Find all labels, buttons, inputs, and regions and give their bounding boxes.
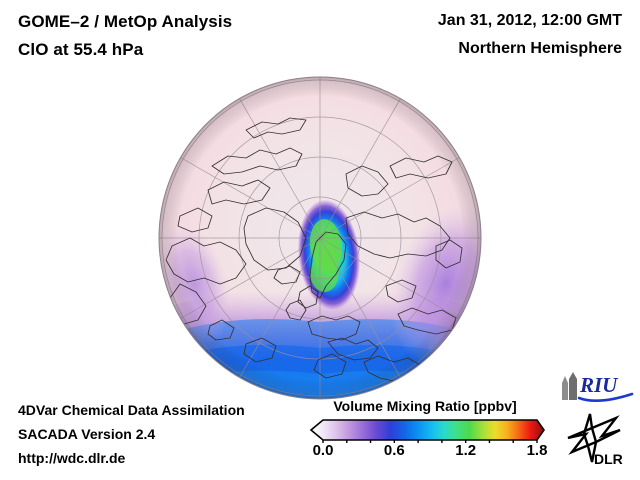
wdc-url-link[interactable]: http://wdc.dlr.de <box>18 450 125 466</box>
figure-canvas: GOME–2 / MetOp Analysis ClO at 55.4 hPa … <box>0 0 640 480</box>
page-title: GOME–2 / MetOp Analysis <box>18 12 232 32</box>
globe-map <box>150 70 490 410</box>
colorbar-svg <box>305 417 545 443</box>
riu-logo: RIU <box>556 370 636 406</box>
colorbar-gradient <box>311 420 544 440</box>
species-level-label: ClO at 55.4 hPa <box>18 40 143 60</box>
colorbar-tick-label: 1.8 <box>527 442 548 459</box>
riu-wordmark: RIU <box>579 373 619 397</box>
region-label: Northern Hemisphere <box>458 40 622 58</box>
method-label: 4DVar Chemical Data Assimilation <box>18 402 245 418</box>
globe-svg <box>150 70 490 410</box>
dlr-wordmark: DLR <box>594 451 623 467</box>
globe-limb-shading <box>159 77 481 399</box>
colorbar-tick-label: 1.2 <box>455 442 476 459</box>
riu-tower-left-icon <box>562 376 568 400</box>
datetime-label: Jan 31, 2012, 12:00 GMT <box>438 12 622 30</box>
colorbar-title: Volume Mixing Ratio [ppbv] <box>305 398 545 414</box>
dlr-logo: DLR <box>562 412 630 468</box>
colorbar-tick-label: 0.0 <box>313 442 334 459</box>
colorbar-tick-label: 0.6 <box>384 442 405 459</box>
coast-east-asia <box>434 350 464 374</box>
colorbar: Volume Mixing Ratio [ppbv] 0.00.61.21.8 <box>305 398 545 476</box>
version-label: SACADA Version 2.4 <box>18 426 155 442</box>
riu-tower-right-icon <box>569 372 577 400</box>
